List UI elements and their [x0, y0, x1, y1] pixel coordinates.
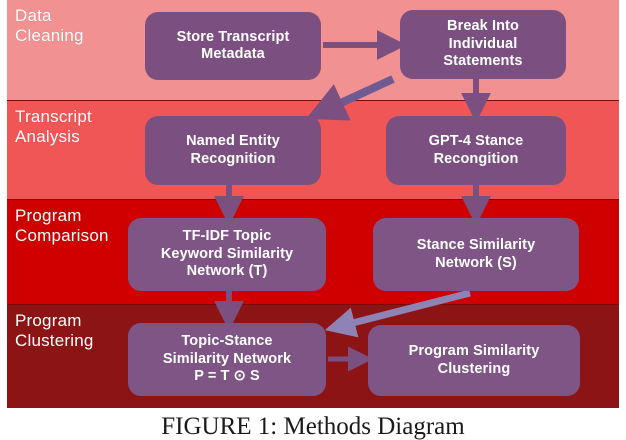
node-break-into-statements[interactable]: Break Into Individual Statements: [400, 10, 566, 79]
node-tfidf-topic-keyword-network[interactable]: TF-IDF Topic Keyword Similarity Network …: [128, 218, 326, 291]
band-divider-2: [7, 199, 619, 200]
band-divider-3: [7, 304, 619, 305]
band-divider-1: [7, 100, 619, 101]
node-store-transcript-metadata[interactable]: Store Transcript Metadata: [145, 12, 321, 80]
node-program-similarity-clustering[interactable]: Program Similarity Clustering: [368, 325, 580, 396]
band-label-program-comparison: Program Comparison: [15, 206, 109, 246]
band-label-transcript-analysis: Transcript Analysis: [15, 107, 92, 147]
node-gpt4-stance-recognition[interactable]: GPT-4 Stance Recongition: [386, 116, 566, 185]
figure-caption: FIGURE 1: Methods Diagram: [0, 412, 626, 440]
band-label-data-cleaning: Data Cleaning: [15, 6, 84, 46]
methods-diagram: Data Cleaning Transcript Analysis Progra…: [7, 0, 619, 408]
figure-page: Data Cleaning Transcript Analysis Progra…: [0, 0, 626, 440]
band-label-program-clustering: Program Clustering: [15, 311, 94, 351]
node-stance-similarity-network[interactable]: Stance Similarity Network (S): [373, 218, 579, 291]
node-topic-stance-network[interactable]: Topic-Stance Similarity Network P = T ⊙ …: [128, 323, 326, 396]
node-named-entity-recognition[interactable]: Named Entity Recognition: [145, 116, 321, 185]
